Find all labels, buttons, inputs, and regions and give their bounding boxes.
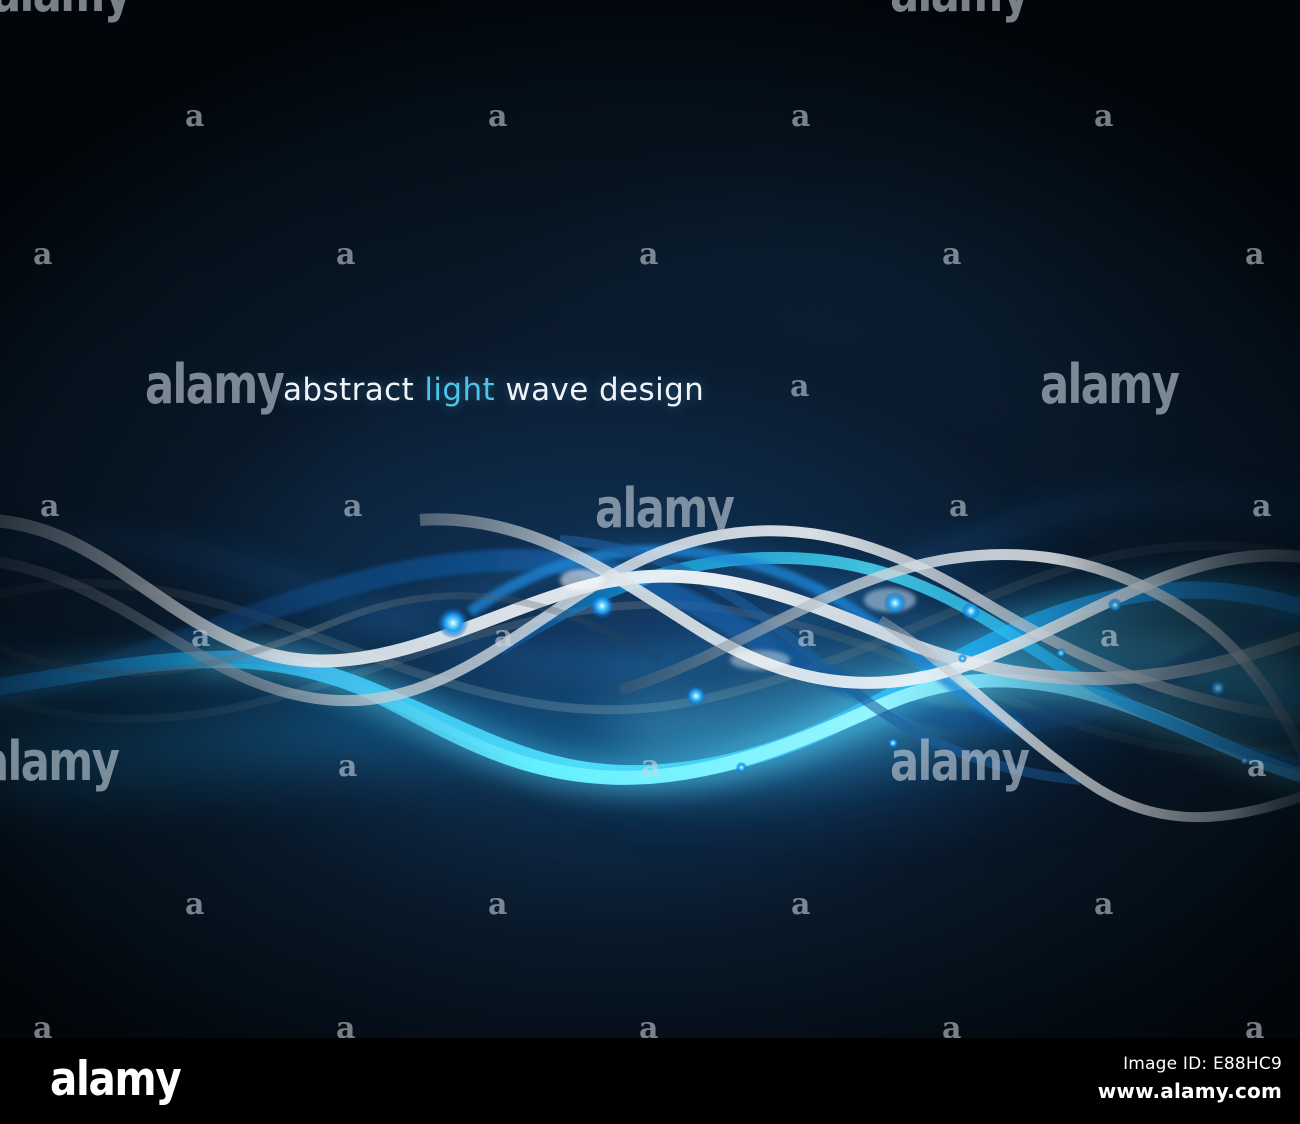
alamy-url: www.alamy.com [1098, 1079, 1282, 1103]
headline-suffix: wave design [495, 372, 704, 408]
headline-prefix: abstract [283, 372, 424, 408]
artwork-headline: abstract light wave design [283, 372, 704, 408]
footer-meta: Image ID: E88HC9 www.alamy.com [1098, 1054, 1282, 1103]
headline-accent: light [424, 372, 495, 408]
alamy-footer-bar: alamy Image ID: E88HC9 www.alamy.com [0, 1038, 1300, 1124]
vignette-overlay [0, 0, 1300, 1038]
image-id-label: Image ID: E88HC9 [1098, 1054, 1282, 1074]
screenshot-root: abstract light wave design alamy alamy a… [0, 0, 1300, 1124]
artwork-image: abstract light wave design alamy alamy a… [0, 0, 1300, 1038]
alamy-logo: alamy [50, 1056, 180, 1103]
